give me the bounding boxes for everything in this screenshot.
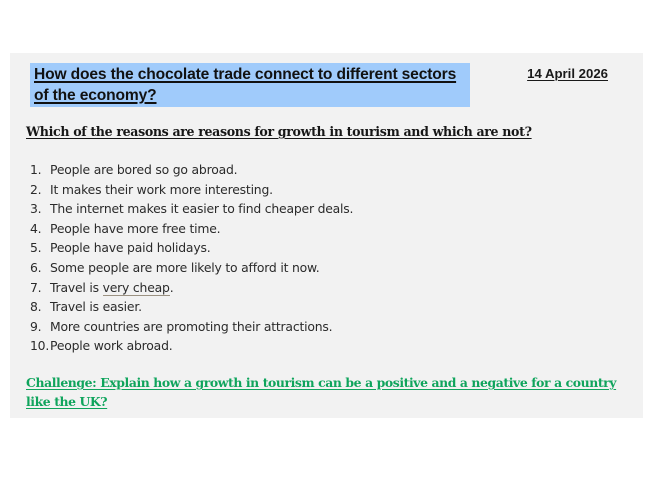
list-item: 4.People have more free time.	[30, 219, 610, 239]
spellcheck-underlined-text: very cheap	[103, 280, 170, 296]
list-item-label: The internet makes it easier to find che…	[50, 199, 353, 219]
list-item-label: People work abroad.	[50, 336, 172, 356]
list-item-label: Travel is easier.	[50, 297, 142, 317]
list-item-label: Travel is very cheap.	[50, 278, 173, 298]
slide-header: How does the chocolate trade connect to …	[10, 53, 643, 111]
challenge-text: Challenge: Explain how a growth in touri…	[26, 374, 626, 411]
list-item-label: People are bored so go abroad.	[50, 160, 237, 180]
list-item-number: 8.	[30, 297, 50, 317]
list-item: 8.Travel is easier.	[30, 297, 610, 317]
list-item-number: 7.	[30, 278, 50, 298]
list-item-text-before: Travel is	[50, 280, 103, 295]
list-item: 10.People work abroad.	[30, 336, 610, 356]
list-item-number: 3.	[30, 199, 50, 219]
list-item-number: 4.	[30, 219, 50, 239]
list-item-label: More countries are promoting their attra…	[50, 317, 332, 337]
slide-panel: How does the chocolate trade connect to …	[10, 53, 643, 418]
list-item: 5.People have paid holidays.	[30, 238, 610, 258]
list-item-number: 10.	[30, 336, 50, 356]
list-item: 1.People are bored so go abroad.	[30, 160, 610, 180]
list-item-number: 6.	[30, 258, 50, 278]
list-item-label: Some people are more likely to afford it…	[50, 258, 320, 278]
list-item: 3.The internet makes it easier to find c…	[30, 199, 610, 219]
list-item-number: 2.	[30, 180, 50, 200]
list-item-number: 1.	[30, 160, 50, 180]
list-item: 6.Some people are more likely to afford …	[30, 258, 610, 278]
list-item-label: It makes their work more interesting.	[50, 180, 273, 200]
list-item: 2.It makes their work more interesting.	[30, 180, 610, 200]
list-item-label: People have more free time.	[50, 219, 220, 239]
list-item: 9.More countries are promoting their att…	[30, 317, 610, 337]
lesson-date: 14 April 2026	[527, 65, 608, 82]
list-item-label: People have paid holidays.	[50, 238, 210, 258]
list-item-number: 9.	[30, 317, 50, 337]
list-item-number: 5.	[30, 238, 50, 258]
page-title: How does the chocolate trade connect to …	[30, 63, 470, 107]
task-subheading: Which of the reasons are reasons for gro…	[26, 123, 532, 140]
reason-list: 1.People are bored so go abroad.2.It mak…	[30, 160, 610, 356]
list-item-text-after: .	[170, 280, 174, 295]
list-item: 7.Travel is very cheap.	[30, 278, 610, 298]
